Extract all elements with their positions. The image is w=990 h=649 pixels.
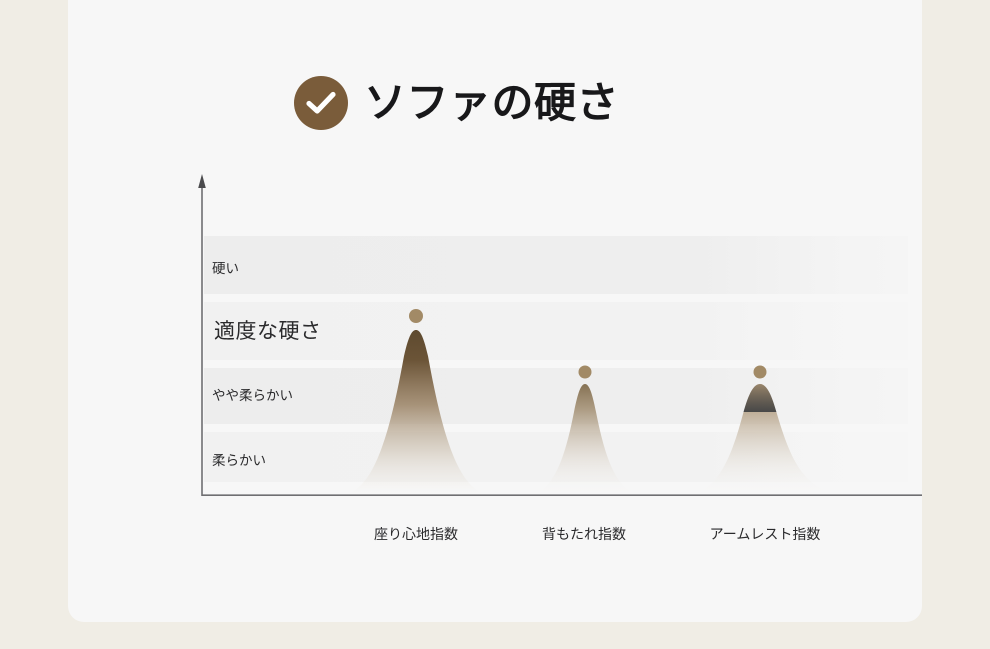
y-axis-arrow (198, 174, 206, 188)
hardness-chart: 硬い 適度な硬さ やや柔らかい 柔らかい 座り心地指数 背もたれ指数 アームレス… (68, 0, 922, 622)
x-axis-label-armrest: アームレスト指数 (710, 524, 821, 544)
x-axis-label-backrest: 背もたれ指数 (542, 524, 626, 544)
chart-bands (204, 236, 908, 482)
x-axis-label-seating: 座り心地指数 (374, 524, 458, 544)
y-axis-label-soft: 柔らかい (212, 449, 266, 469)
y-axis-label-moderate: 適度な硬さ (214, 315, 322, 345)
y-axis-label-hard: 硬い (212, 257, 239, 277)
peak-marker-backrest (579, 366, 592, 379)
y-axis-label-slightly-soft: やや柔らかい (212, 384, 293, 404)
peak-marker-armrest (754, 366, 767, 379)
content-card: ソファの硬さ (68, 0, 922, 622)
peak-marker-seating (409, 309, 423, 323)
